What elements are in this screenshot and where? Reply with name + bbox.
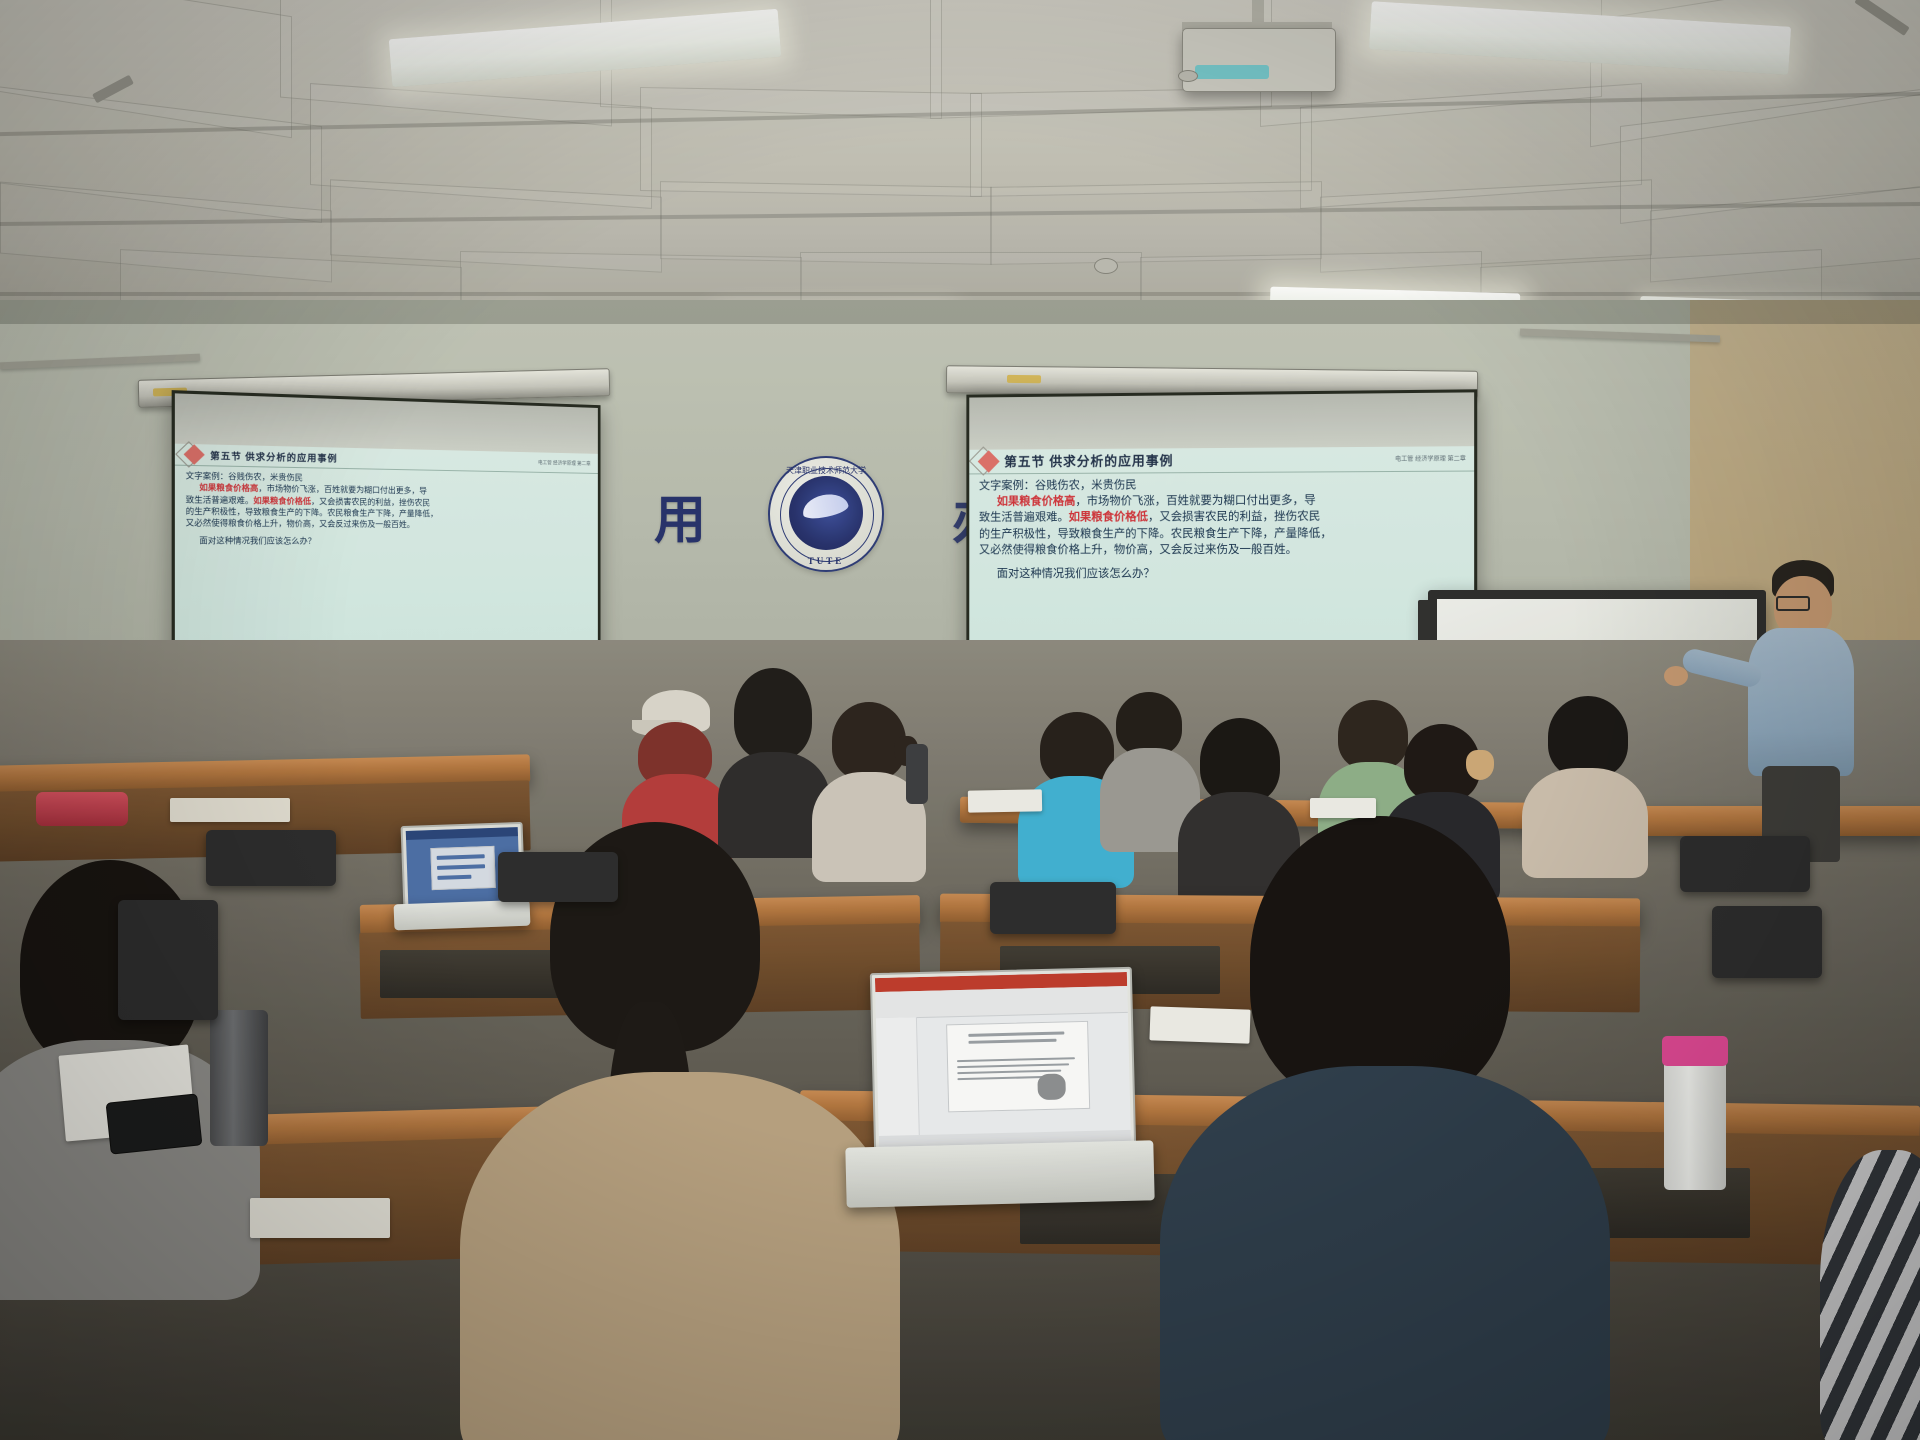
smartphone[interactable] bbox=[106, 1093, 203, 1154]
slide-title: 第五节 供求分析的应用事例 bbox=[210, 448, 337, 464]
slide-line-rest: ，又会损害农民的利益，挫伤农民 bbox=[311, 497, 430, 508]
emblem-wave bbox=[789, 476, 863, 550]
slide-line: 面对这种情况我们应该怎么办？ bbox=[186, 535, 589, 548]
slide-line-plain: 致生活普遍艰难。 bbox=[979, 512, 1069, 524]
water-bottle-small[interactable] bbox=[906, 744, 928, 804]
teacher-shirt bbox=[1748, 628, 1854, 776]
student-hair bbox=[1116, 692, 1182, 756]
chair[interactable] bbox=[1680, 836, 1810, 892]
classroom-photo: 天津职业技术师范大学 TUTE 用 办 第五节 供求分析的应用事例 电工管 经济… bbox=[0, 0, 1920, 1440]
chair[interactable] bbox=[118, 900, 218, 1020]
student-torso bbox=[1160, 1066, 1610, 1440]
paper-sheet[interactable] bbox=[1310, 798, 1376, 818]
student-right-edge bbox=[1820, 1150, 1920, 1440]
slide-image-placeholder bbox=[1037, 1073, 1066, 1100]
slide-line-plain: 致生活普遍艰难。 bbox=[186, 495, 254, 505]
student-hair bbox=[1548, 696, 1628, 778]
case-indicator bbox=[1007, 375, 1041, 383]
projector-icon bbox=[1182, 28, 1336, 92]
chair[interactable] bbox=[990, 882, 1116, 934]
slide-line: 如果粮食价格高，市场物价飞涨，百姓就要为糊口付出更多，导 bbox=[979, 492, 1464, 510]
paper-sheet[interactable] bbox=[968, 789, 1042, 812]
chair[interactable] bbox=[498, 852, 618, 902]
projector-lens bbox=[1195, 65, 1269, 79]
laptop-keyboard[interactable] bbox=[845, 1140, 1154, 1208]
chair[interactable] bbox=[1712, 906, 1822, 978]
slide-meta: 电工管 经济学原理 第二章 bbox=[1395, 454, 1466, 464]
slide-line: 的生产积极性，导致粮食生产的下降。农民粮食生产下降，产量降低， bbox=[979, 525, 1464, 542]
slide-line-rest: ，又会损害农民的利益，挫伤农民 bbox=[1148, 511, 1320, 524]
eyeglasses-icon bbox=[1776, 596, 1810, 611]
emblem-bottom-text: TUTE bbox=[770, 556, 882, 566]
teacher bbox=[1740, 560, 1920, 840]
student-hair bbox=[1250, 816, 1510, 1106]
slide-line-highlight: 如果粮食价格高 bbox=[997, 496, 1076, 508]
slide-meta: 电工管 经济学原理 第二章 bbox=[538, 459, 591, 467]
student-mid-right bbox=[1180, 816, 1600, 1436]
slide-line-highlight: 如果粮食价格低 bbox=[1069, 512, 1148, 524]
school-emblem: 天津职业技术师范大学 TUTE bbox=[768, 456, 884, 572]
slide-line: 面对这种情况我们应该怎么办？ bbox=[979, 566, 1464, 583]
slide-line-rest: ，市场物价飞涨，百姓就要为糊口付出更多，导 bbox=[1075, 495, 1315, 508]
slide-line: 又必然使得粮食价格上升，物价高，又会反过来伤及一般百姓。 bbox=[979, 542, 1464, 559]
smoke-sensor-icon bbox=[1094, 258, 1118, 274]
student-mid-center bbox=[470, 822, 900, 1440]
slide-title: 第五节 供求分析的应用事例 bbox=[1004, 451, 1173, 471]
slide-line-rest: ，市场物价飞涨，百姓就要为糊口付出更多，导 bbox=[258, 484, 427, 496]
student-hair bbox=[734, 668, 812, 760]
ceiling-tile bbox=[970, 87, 1312, 197]
water-bottle[interactable] bbox=[210, 1010, 268, 1146]
notebook-stack[interactable] bbox=[250, 1198, 390, 1238]
slide-body-right: 文字案例：谷贱伤农，米贵伤民 如果粮食价格高，市场物价飞涨，百姓就要为糊口付出更… bbox=[969, 471, 1474, 583]
laptop-screen[interactable] bbox=[875, 972, 1131, 1150]
thermos-lid bbox=[1662, 1036, 1728, 1066]
paper-sheet[interactable] bbox=[1149, 1006, 1250, 1043]
slide-body-left: 文字案例：谷贱伤农，米贵伤民 如果粮食价格高，市场物价飞涨，百姓就要为糊口付出更… bbox=[175, 466, 598, 548]
hair-bun bbox=[1466, 750, 1494, 780]
student-torso bbox=[1820, 1150, 1920, 1440]
emblem-top-text: 天津职业技术师范大学 bbox=[770, 465, 882, 476]
pencil-case[interactable] bbox=[36, 792, 128, 826]
wall-character-left: 用 bbox=[654, 478, 706, 553]
slide-header-right: 第五节 供求分析的应用事例 电工管 经济学原理 第二章 bbox=[969, 446, 1474, 474]
slide-line-highlight: 如果粮食价格低 bbox=[253, 496, 311, 506]
student-torso bbox=[460, 1072, 900, 1440]
ribbon-toolbar[interactable] bbox=[875, 986, 1128, 1019]
smoke-sensor-icon bbox=[1178, 70, 1198, 82]
slide-line: 致生活普遍艰难。如果粮食价格低，又会损害农民的利益，挫伤农民 bbox=[979, 509, 1464, 527]
laptop-lid bbox=[870, 967, 1136, 1155]
slide-line-highlight: 如果粮食价格高 bbox=[199, 483, 258, 493]
ceiling-tile bbox=[640, 87, 982, 197]
slide-line: 又必然使得粮食价格上升，物价高，又会反过来伤及一般百姓。 bbox=[186, 518, 589, 533]
ceiling-beam bbox=[0, 292, 1920, 296]
textbook[interactable] bbox=[170, 798, 290, 822]
screen-gray-band bbox=[969, 392, 1474, 449]
teacher-hand bbox=[1664, 666, 1688, 686]
slide-thumbnail-pane[interactable] bbox=[876, 1017, 920, 1136]
chair[interactable] bbox=[206, 830, 336, 886]
wall-shadow bbox=[0, 300, 1920, 324]
